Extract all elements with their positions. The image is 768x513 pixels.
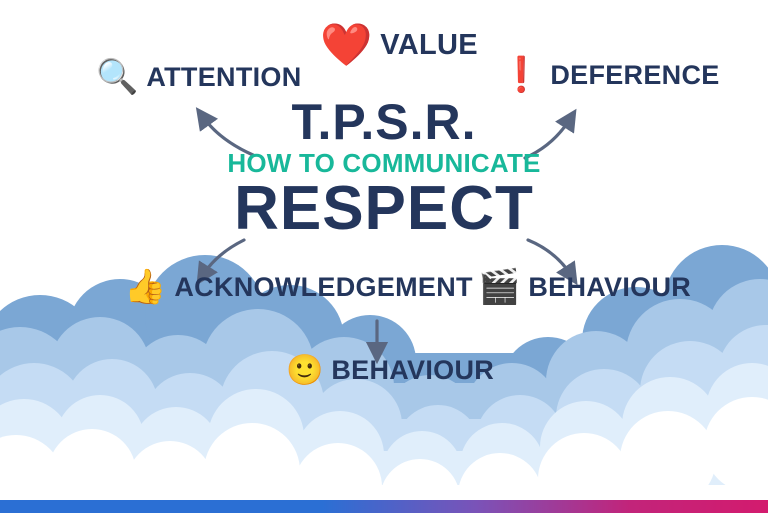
acronym-heading: T.P.S.R. [0, 96, 768, 148]
gradient-bar [0, 500, 768, 513]
cloud-layer-front [0, 397, 768, 513]
poster-canvas: T.P.S.R. HOW TO COMMUNICATE RESPECT 🔍 AT… [0, 0, 768, 513]
center-title-block: T.P.S.R. HOW TO COMMUNICATE RESPECT [0, 96, 768, 240]
node-behaviour-smiley: 🙂 BEHAVIOUR [286, 355, 494, 386]
page-title: RESPECT [0, 178, 768, 240]
node-behaviour-clapper: 🎬 BEHAVIOUR [478, 270, 691, 304]
cloud-layer-light [0, 325, 768, 513]
node-acknowledgement-label: ACKNOWLEDGEMENT [174, 272, 472, 303]
slightly-smiling-face-icon: 🙂 [286, 356, 323, 386]
node-value: ❤️ VALUE [320, 24, 478, 66]
node-deference-label: DEFERENCE [550, 60, 719, 91]
node-attention-label: ATTENTION [146, 62, 301, 93]
exclamation-warning-icon: ❗ [500, 58, 542, 92]
node-attention: 🔍 ATTENTION [96, 60, 302, 94]
node-behaviour-smiley-label: BEHAVIOUR [331, 355, 494, 386]
node-value-label: VALUE [380, 29, 478, 62]
node-acknowledgement: 👍 ACKNOWLEDGEMENT [124, 270, 473, 304]
node-deference: ❗ DEFERENCE [500, 58, 720, 92]
cloud-layer-mid [0, 279, 768, 513]
node-behaviour-clapper-label: BEHAVIOUR [528, 272, 691, 303]
clapper-board-icon: 🎬 [478, 270, 520, 304]
thumbs-up-icon: 👍 [124, 270, 166, 304]
red-heart-icon: ❤️ [320, 24, 372, 66]
magnifying-glass-icon: 🔍 [96, 60, 138, 94]
